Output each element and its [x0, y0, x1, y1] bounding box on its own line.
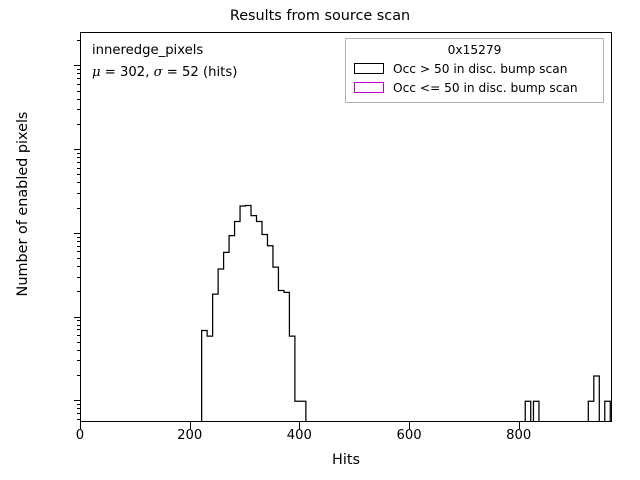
sigma-symbol: σ — [154, 65, 163, 80]
histogram-step-0 — [533, 401, 538, 422]
module-name-text: inneredge_pixels — [92, 40, 237, 62]
page-title: Results from source scan — [0, 8, 640, 24]
figure: Results from source scan Number of enabl… — [0, 0, 640, 480]
y-axis-label: Number of enabled pixels — [15, 9, 31, 399]
legend-entry-label: Occ <= 50 in disc. bump scan — [393, 81, 578, 95]
stats-annotation: inneredge_pixels μ = 302, σ = 52 (hits) — [92, 40, 237, 84]
legend-title: 0x15279 — [352, 43, 597, 59]
histogram-step-0 — [588, 376, 599, 422]
legend-swatch-icon — [354, 63, 384, 74]
legend-entry-label: Occ > 50 in disc. bump scan — [393, 62, 567, 76]
x-tick-label: 400 — [259, 428, 339, 443]
mu-value: 302 — [120, 65, 145, 80]
mu-symbol: μ — [92, 65, 101, 80]
x-tick-label: 200 — [150, 428, 230, 443]
mu-equals: = — [101, 65, 120, 80]
legend-entry-0[interactable]: Occ > 50 in disc. bump scan — [352, 59, 597, 78]
histogram-step-0 — [202, 205, 306, 422]
x-tick-label: 0 — [40, 428, 120, 443]
legend: 0x15279 Occ > 50 in disc. bump scanOcc <… — [345, 38, 604, 103]
legend-entry-1[interactable]: Occ <= 50 in disc. bump scan — [352, 78, 597, 97]
x-tick-label: 800 — [479, 428, 559, 443]
histogram-step-0 — [605, 401, 610, 422]
legend-swatch-icon — [354, 82, 384, 93]
stats-separator: , — [145, 65, 153, 80]
mu-sigma-text: μ = 302, σ = 52 (hits) — [92, 62, 237, 84]
legend-entries: Occ > 50 in disc. bump scanOcc <= 50 in … — [352, 59, 597, 97]
x-axis-label: Hits — [80, 452, 612, 468]
histogram-step-0 — [525, 401, 530, 422]
sigma-equals: = — [163, 65, 182, 80]
stats-units: (hits) — [203, 65, 237, 80]
x-tick-label: 600 — [369, 428, 449, 443]
sigma-value: 52 — [182, 65, 199, 80]
